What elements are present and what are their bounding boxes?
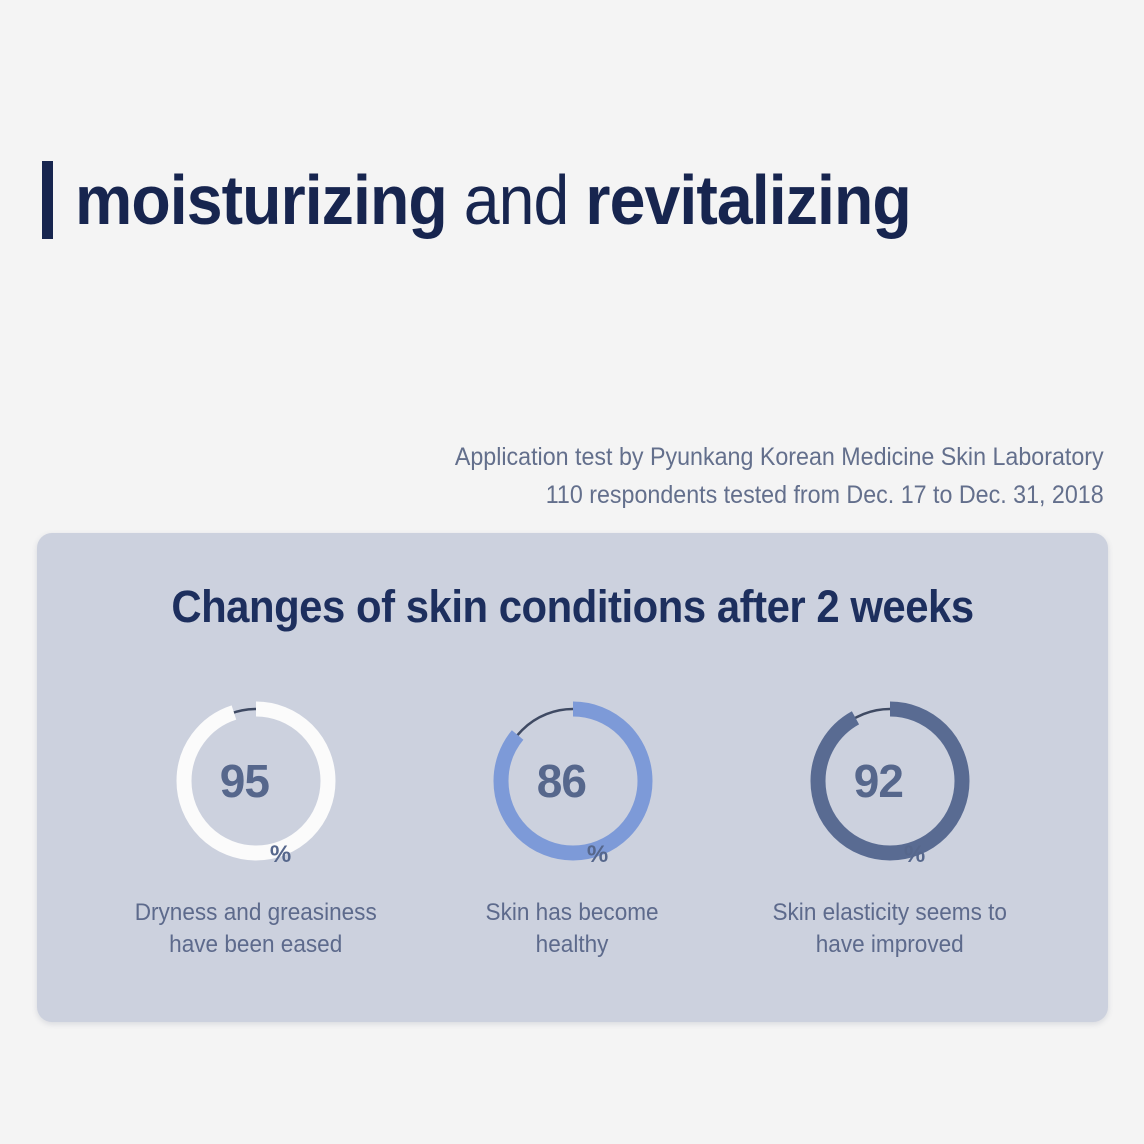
donut-value-arc-2 xyxy=(818,709,962,853)
donut-chart-0: 95 % xyxy=(166,691,346,871)
donut-value-arc-0 xyxy=(184,709,328,853)
infographic-page: { "headline": { "accent_color": "#17254f… xyxy=(0,0,1144,1144)
donut-chart-item: 95 % Dryness and greasiness have been ea… xyxy=(111,691,401,960)
donut-caption-0-line-2: have been eased xyxy=(134,929,376,961)
page-title-part-1: moisturizing xyxy=(75,161,447,239)
donut-chart-2: 92 % xyxy=(800,691,980,871)
donut-caption-0-line-1: Dryness and greasiness xyxy=(134,897,376,929)
donut-caption-2-line-1: Skin elasticity seems to xyxy=(772,897,1006,929)
donut-chart-row: 95 % Dryness and greasiness have been ea… xyxy=(97,691,1048,960)
donut-caption-0: Dryness and greasiness have been eased xyxy=(134,897,376,960)
donut-chart-item: 86 % Skin has become healthy xyxy=(428,691,718,960)
results-card: Changes of skin conditions after 2 weeks… xyxy=(37,533,1108,1022)
donut-svg-0 xyxy=(166,691,346,871)
page-title: moisturizing and revitalizing xyxy=(42,150,983,250)
donut-caption-1-line-1: Skin has become xyxy=(486,897,659,929)
study-credit-line-2: 110 respondents tested from Dec. 17 to D… xyxy=(455,476,1104,514)
donut-caption-1: Skin has become healthy xyxy=(486,897,659,960)
donut-chart-1: 86 % xyxy=(483,691,663,871)
study-credit-line-1: Application test by Pyunkang Korean Medi… xyxy=(455,438,1104,476)
donut-chart-item: 92 % Skin elasticity seems to have impro… xyxy=(745,691,1035,960)
donut-caption-2: Skin elasticity seems to have improved xyxy=(772,897,1006,960)
page-title-part-2: and xyxy=(447,161,586,239)
title-accent-bar xyxy=(42,161,53,239)
donut-caption-2-line-2: have improved xyxy=(772,929,1006,961)
card-title: Changes of skin conditions after 2 weeks xyxy=(74,581,1070,633)
page-title-part-3: revitalizing xyxy=(585,161,910,239)
page-title-text: moisturizing and revitalizing xyxy=(75,165,911,235)
donut-svg-2 xyxy=(800,691,980,871)
donut-svg-1 xyxy=(483,691,663,871)
study-credit: Application test by Pyunkang Korean Medi… xyxy=(455,438,1104,514)
donut-caption-1-line-2: healthy xyxy=(486,929,659,961)
